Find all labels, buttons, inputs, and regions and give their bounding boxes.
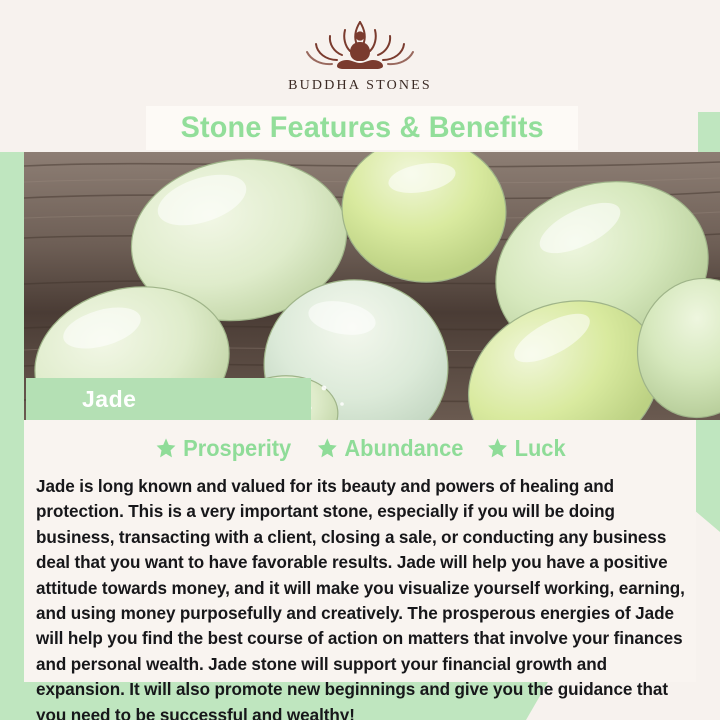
page-title: Stone Features & Benefits	[180, 111, 543, 145]
star-icon	[317, 437, 338, 459]
stone-name: Jade	[82, 386, 136, 413]
content-panel: Prosperity Abundance Luck Jade is long k…	[24, 420, 696, 682]
decor-left-green-strip-bottom	[0, 420, 26, 682]
stone-info-card: BUDDHA STONES Stone Features & Benefits	[0, 0, 720, 720]
stone-description: Jade is long known and valued for its be…	[36, 474, 686, 720]
keyword-item: Prosperity	[156, 435, 292, 462]
decor-right-green-strip	[694, 420, 720, 532]
title-banner: Stone Features & Benefits	[146, 106, 578, 150]
star-icon	[156, 437, 177, 459]
stone-name-band: Jade	[26, 378, 311, 420]
keyword-list: Prosperity Abundance Luck	[24, 428, 696, 468]
keyword-item: Luck	[487, 435, 566, 462]
keyword-label: Luck	[515, 435, 566, 462]
star-icon	[487, 437, 508, 459]
lotus-meditation-figure-icon	[285, 16, 435, 74]
brand-name: BUDDHA STONES	[288, 78, 432, 94]
decor-left-green-strip-top	[0, 152, 24, 420]
keyword-item: Abundance	[317, 435, 464, 462]
keyword-label: Abundance	[344, 435, 463, 462]
brand-header: BUDDHA STONES	[0, 0, 720, 112]
keyword-label: Prosperity	[183, 435, 291, 462]
